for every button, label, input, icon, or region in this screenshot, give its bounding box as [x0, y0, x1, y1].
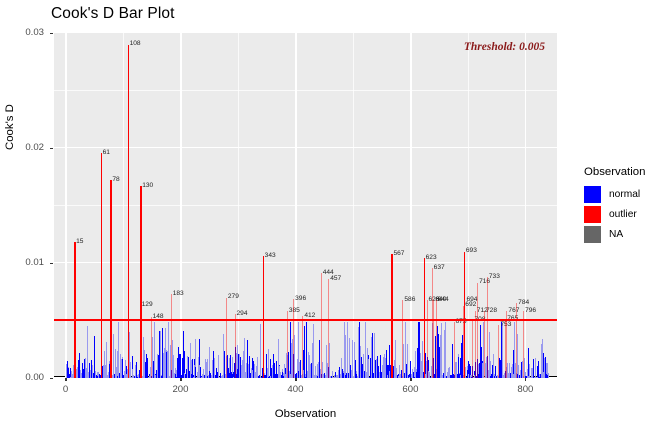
x-tick-label: 200 [172, 384, 188, 395]
outlier-spike [464, 300, 465, 378]
y-tick-mark [50, 263, 53, 264]
observation-bar [441, 323, 442, 378]
outlier-spike [475, 311, 476, 378]
y-tick-mark [50, 33, 53, 34]
chart-title: Cook's D Bar Plot [51, 5, 175, 23]
legend-swatch-icon [584, 226, 601, 243]
outlier-spike [287, 311, 288, 378]
y-tick-mark [50, 148, 53, 149]
outlier-label: 396 [295, 296, 306, 303]
gridline-x-major [180, 33, 181, 378]
y-tick-label: 0.00 [0, 372, 44, 383]
x-tick-mark [525, 378, 526, 381]
legend-title: Observation [584, 166, 645, 178]
outlier-label: 693 [466, 248, 477, 255]
observation-bar [329, 343, 330, 378]
outlier-spike [436, 300, 437, 378]
threshold-line [54, 319, 557, 321]
y-tick-label: 0.02 [0, 142, 44, 153]
observation-bar [502, 324, 503, 378]
observation-bar [294, 335, 295, 378]
observation-bar [313, 324, 314, 378]
outlier-spike [427, 300, 428, 378]
outlier-spike [74, 242, 76, 378]
legend-swatch-icon [584, 206, 601, 223]
outlier-spike [226, 298, 227, 379]
outlier-spike [516, 303, 517, 378]
outlier-spike [140, 186, 142, 378]
x-tick-label: 400 [287, 384, 303, 395]
outlier-label: 108 [130, 41, 141, 48]
observation-bar [535, 358, 536, 378]
outlier-label: 61 [103, 150, 110, 157]
outlier-spike [235, 314, 236, 378]
outlier-label: 183 [173, 291, 184, 298]
x-tick-label: 600 [402, 384, 418, 395]
outlier-label: 343 [265, 253, 276, 260]
outlier-spike [171, 294, 172, 378]
observation-bar [365, 322, 366, 378]
gridline-x-major [295, 33, 296, 378]
x-tick-mark [295, 378, 296, 381]
outlier-label: 733 [489, 274, 500, 281]
outlier-label: 15 [76, 239, 83, 246]
observation-bar [548, 375, 549, 379]
outlier-spike [433, 300, 434, 378]
y-tick-label: 0.03 [0, 27, 44, 38]
legend: Observation normaloutlierNA [584, 166, 645, 245]
outlier-spike [454, 322, 455, 378]
observation-bar [345, 335, 346, 378]
outlier-label: 637 [434, 265, 445, 272]
observation-bar [304, 326, 305, 378]
outlier-label: 694 [466, 297, 477, 304]
gridline-y-major [54, 262, 557, 263]
legend-item-outlier[interactable]: outlier [584, 205, 645, 224]
outlier-spike [506, 311, 507, 378]
gridline-y-major [54, 147, 557, 148]
gridline-x-minor [123, 33, 124, 378]
outlier-label: 129 [142, 302, 153, 309]
outlier-label: 784 [518, 300, 529, 307]
gridline-x-minor [468, 33, 469, 378]
outlier-label: 767 [508, 308, 519, 315]
threshold-annotation: Threshold: 0.005 [464, 41, 545, 53]
outlier-label: 586 [404, 297, 415, 304]
x-tick-mark [65, 378, 66, 381]
outlier-label: 78 [112, 177, 119, 184]
legend-label: normal [609, 189, 640, 200]
plot-panel: 1561781081291301481832792943433853964124… [54, 33, 557, 378]
outlier-spike [263, 256, 265, 378]
legend-item-NA[interactable]: NA [584, 225, 645, 244]
outlier-label: 294 [237, 311, 248, 318]
x-tick-mark [410, 378, 411, 381]
x-tick-label: 800 [517, 384, 533, 395]
outlier-spike [302, 316, 303, 378]
gridline-y-minor [54, 90, 557, 91]
gridline-y-minor [54, 205, 557, 206]
x-tick-label: 0 [63, 384, 68, 395]
outlier-label: 567 [393, 251, 404, 258]
y-tick-label: 0.01 [0, 257, 44, 268]
x-tick-mark [180, 378, 181, 381]
outlier-spike [151, 317, 152, 378]
legend-label: outlier [609, 209, 637, 220]
outlier-spike [472, 321, 473, 379]
outlier-label: 716 [479, 279, 490, 286]
x-axis-label: Observation [54, 408, 557, 420]
outlier-spike [487, 277, 488, 378]
outlier-label: 644 [438, 297, 449, 304]
outlier-spike [484, 311, 485, 378]
cooks-d-bar-plot: Cook's D Bar Plot Cook's D Observation 0… [0, 0, 672, 432]
legend-item-normal[interactable]: normal [584, 185, 645, 204]
y-tick-mark [50, 378, 53, 379]
outlier-spike [391, 254, 393, 378]
gridline-x-minor [238, 33, 239, 378]
outlier-label: 692 [465, 302, 476, 309]
outlier-spike [128, 45, 130, 379]
outlier-spike [498, 325, 499, 378]
outlier-label: 796 [525, 308, 536, 315]
gridline-x-major [525, 33, 526, 378]
outlier-label: 623 [426, 255, 437, 262]
outlier-label: 457 [330, 276, 341, 283]
outlier-spike [110, 180, 112, 378]
outlier-spike [293, 299, 294, 378]
outlier-spike [477, 283, 478, 378]
outlier-spike [402, 300, 403, 378]
outlier-spike [321, 273, 322, 378]
outlier-label: 130 [142, 183, 153, 190]
outlier-spike [523, 311, 524, 378]
outlier-spike [328, 279, 329, 378]
outlier-label: 385 [289, 308, 300, 315]
gridline-x-major [65, 33, 66, 378]
outlier-spike [101, 153, 103, 378]
legend-label: NA [609, 229, 623, 240]
gridline-x-minor [353, 33, 354, 378]
observation-bar [445, 322, 446, 378]
gridline-x-major [410, 33, 411, 378]
outlier-label: 279 [228, 294, 239, 301]
observation-bar [347, 322, 348, 378]
legend-swatch-icon [584, 186, 601, 203]
